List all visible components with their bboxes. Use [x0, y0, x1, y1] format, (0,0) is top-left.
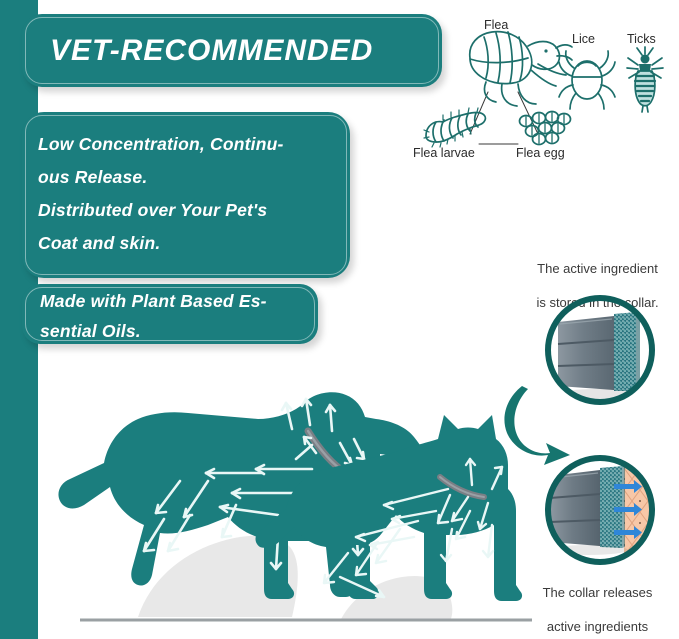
tick-icon — [627, 47, 663, 112]
collar-release-illustration — [536, 446, 664, 574]
oils-line: Made with Plant Based Es- — [40, 286, 306, 316]
flea-icon — [470, 32, 572, 106]
ground-shadows — [138, 536, 452, 621]
callout-line: The active ingredient — [516, 260, 679, 277]
benefit-line: Low Concentration, Continu- — [38, 128, 336, 161]
benefit-line: Distributed over Your Pet's — [38, 194, 336, 227]
label-flea-egg: Flea egg — [516, 146, 565, 160]
headline-card: VET-RECOMMENDED — [22, 14, 442, 87]
flea-egg-icon — [520, 112, 571, 145]
benefit-line: ous Release. — [38, 161, 336, 194]
callout-line: The collar releases — [516, 584, 679, 601]
essential-oils-card: Made with Plant Based Es- sential Oils. — [22, 284, 318, 344]
label-ticks: Ticks — [627, 32, 656, 46]
benefit-text: Low Concentration, Continu- ous Release.… — [22, 112, 350, 260]
callout-release-text: The collar releases active ingredients t… — [516, 567, 679, 639]
infographic-canvas: VET-RECOMMENDED Low Concentration, Conti… — [0, 0, 679, 639]
release-arrows-icon — [614, 480, 642, 539]
lice-icon — [559, 51, 615, 109]
essential-oils-text: Made with Plant Based Es- sential Oils. — [22, 284, 318, 346]
label-lice: Lice — [572, 32, 595, 46]
oils-line: sential Oils. — [40, 316, 306, 346]
headline-text: VET-RECOMMENDED — [22, 14, 442, 87]
flea-larvae-icon — [424, 108, 485, 147]
callout-line: active ingredients — [516, 618, 679, 635]
benefit-line: Coat and skin. — [38, 227, 336, 260]
animal-distribution-diagram — [40, 385, 540, 639]
benefit-card: Low Concentration, Continu- ous Release.… — [22, 112, 350, 278]
label-flea-larvae: Flea larvae — [413, 146, 475, 160]
label-flea: Flea — [484, 18, 508, 32]
